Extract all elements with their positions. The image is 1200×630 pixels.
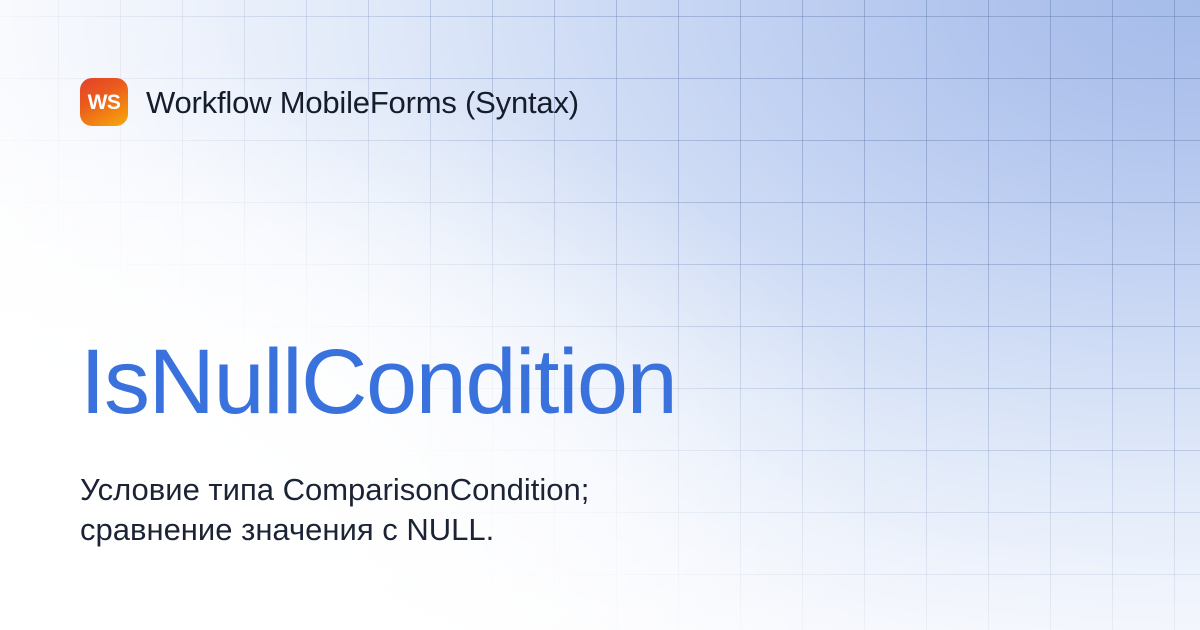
description-line-1: Условие типа ComparisonCondition; (80, 470, 800, 510)
og-card-canvas: WS Workflow MobileForms (Syntax) IsNullC… (0, 0, 1200, 630)
brand-title: Workflow MobileForms (Syntax) (146, 87, 579, 118)
ws-app-logo-icon: WS (80, 78, 128, 126)
page-description: Условие типа ComparisonCondition; сравне… (80, 470, 800, 550)
ws-logo-label: WS (88, 92, 121, 113)
card-content: WS Workflow MobileForms (Syntax) IsNullC… (0, 0, 1200, 630)
brand-header: WS Workflow MobileForms (Syntax) (80, 78, 579, 126)
description-line-2: сравнение значения с NULL. (80, 510, 800, 550)
page-title: IsNullCondition (80, 336, 676, 428)
